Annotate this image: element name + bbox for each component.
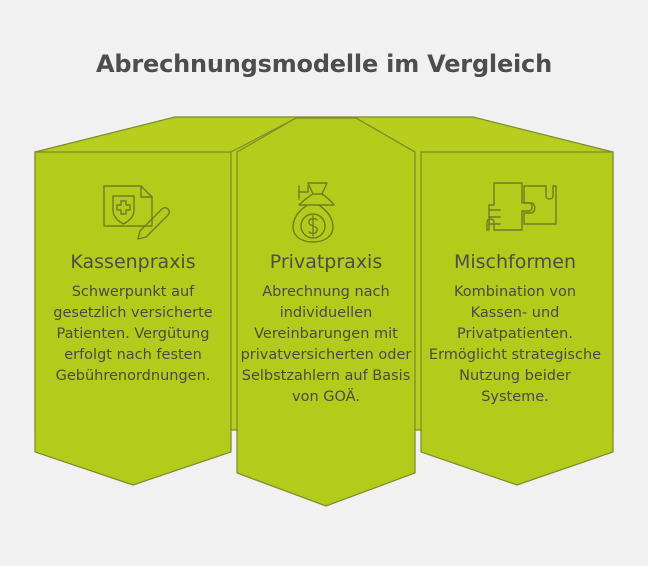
column-privatpraxis: Privatpraxis Abrechnung nach individuell…	[226, 252, 426, 408]
column-body-mischformen: Kombination von Kassen- und Privatpatien…	[417, 282, 613, 408]
body-line: Ermöglicht strategische	[417, 345, 613, 366]
column-heading-privatpraxis: Privatpraxis	[226, 252, 426, 273]
body-line: Systeme.	[417, 387, 613, 408]
body-line: Selbstzahlern auf Basis	[226, 366, 426, 387]
body-line: privatversicherten oder	[226, 345, 426, 366]
column-kassenpraxis: Kassenpraxis Schwerpunkt auf gesetzlich …	[35, 252, 231, 387]
column-heading-kassenpraxis: Kassenpraxis	[35, 252, 231, 273]
column-body-kassenpraxis: Schwerpunkt auf gesetzlich versicherte P…	[35, 282, 231, 387]
infographic-root: Abrechnungsmodelle im Vergleich	[0, 0, 648, 566]
body-line: gesetzlich versicherte	[35, 303, 231, 324]
body-line: individuellen	[226, 303, 426, 324]
body-line: erfolgt nach festen	[35, 345, 231, 366]
column-heading-mischformen: Mischformen	[417, 252, 613, 273]
column-body-privatpraxis: Abrechnung nach individuellen Vereinbaru…	[226, 282, 426, 408]
body-line: Privatpatienten.	[417, 324, 613, 345]
body-line: Gebührenordnungen.	[35, 366, 231, 387]
body-line: Patienten. Vergütung	[35, 324, 231, 345]
body-line: Kassen- und	[417, 303, 613, 324]
body-line: Schwerpunkt auf	[35, 282, 231, 303]
column-mischformen: Mischformen Kombination von Kassen- und …	[417, 252, 613, 408]
body-line: von GOÄ.	[226, 387, 426, 408]
body-line: Kombination von	[417, 282, 613, 303]
body-line: Abrechnung nach	[226, 282, 426, 303]
body-line: Nutzung beider	[417, 366, 613, 387]
body-line: Vereinbarungen mit	[226, 324, 426, 345]
